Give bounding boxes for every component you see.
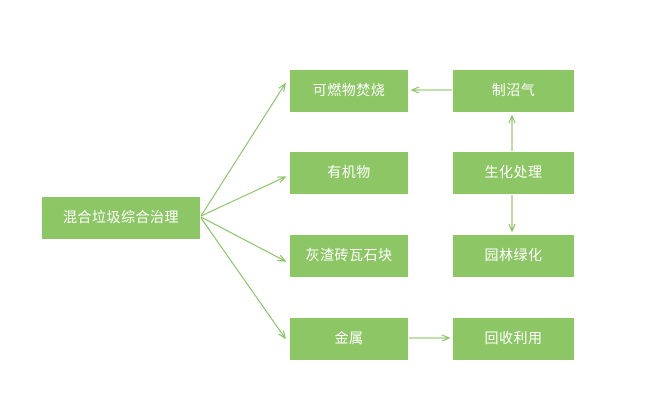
node-biochemical-treatment[interactable]: 生化处理 xyxy=(453,152,574,194)
node-label: 灰渣砖瓦石块 xyxy=(306,249,393,263)
edge-source-to-organic xyxy=(201,177,285,216)
node-landscaping[interactable]: 园林绿化 xyxy=(453,235,574,277)
node-label: 混合垃圾综合治理 xyxy=(63,211,179,225)
node-biogas-production[interactable]: 制沼气 xyxy=(453,70,574,112)
node-label: 金属 xyxy=(335,332,364,346)
node-mixed-waste-treatment[interactable]: 混合垃圾综合治理 xyxy=(42,197,200,239)
node-metal[interactable]: 金属 xyxy=(290,318,408,360)
node-organic-matter[interactable]: 有机物 xyxy=(290,152,408,194)
node-recycling-reuse[interactable]: 回收利用 xyxy=(453,318,574,360)
edge-source-to-metal xyxy=(201,218,285,338)
node-ash-brick-tile-stone[interactable]: 灰渣砖瓦石块 xyxy=(290,235,408,277)
diagram-canvas: 混合垃圾综合治理 可燃物焚烧 有机物 灰渣砖瓦石块 金属 制沼气 生化处理 园林… xyxy=(0,0,648,416)
node-label: 园林绿化 xyxy=(485,249,543,263)
node-label: 有机物 xyxy=(327,166,371,180)
node-label: 生化处理 xyxy=(485,166,543,180)
edge-source-to-ash xyxy=(201,217,285,261)
node-label: 制沼气 xyxy=(492,84,536,98)
node-label: 回收利用 xyxy=(485,332,543,346)
edge-source-to-combustible xyxy=(201,84,285,216)
node-combustible-incineration[interactable]: 可燃物焚烧 xyxy=(290,70,408,112)
node-label: 可燃物焚烧 xyxy=(313,84,386,98)
